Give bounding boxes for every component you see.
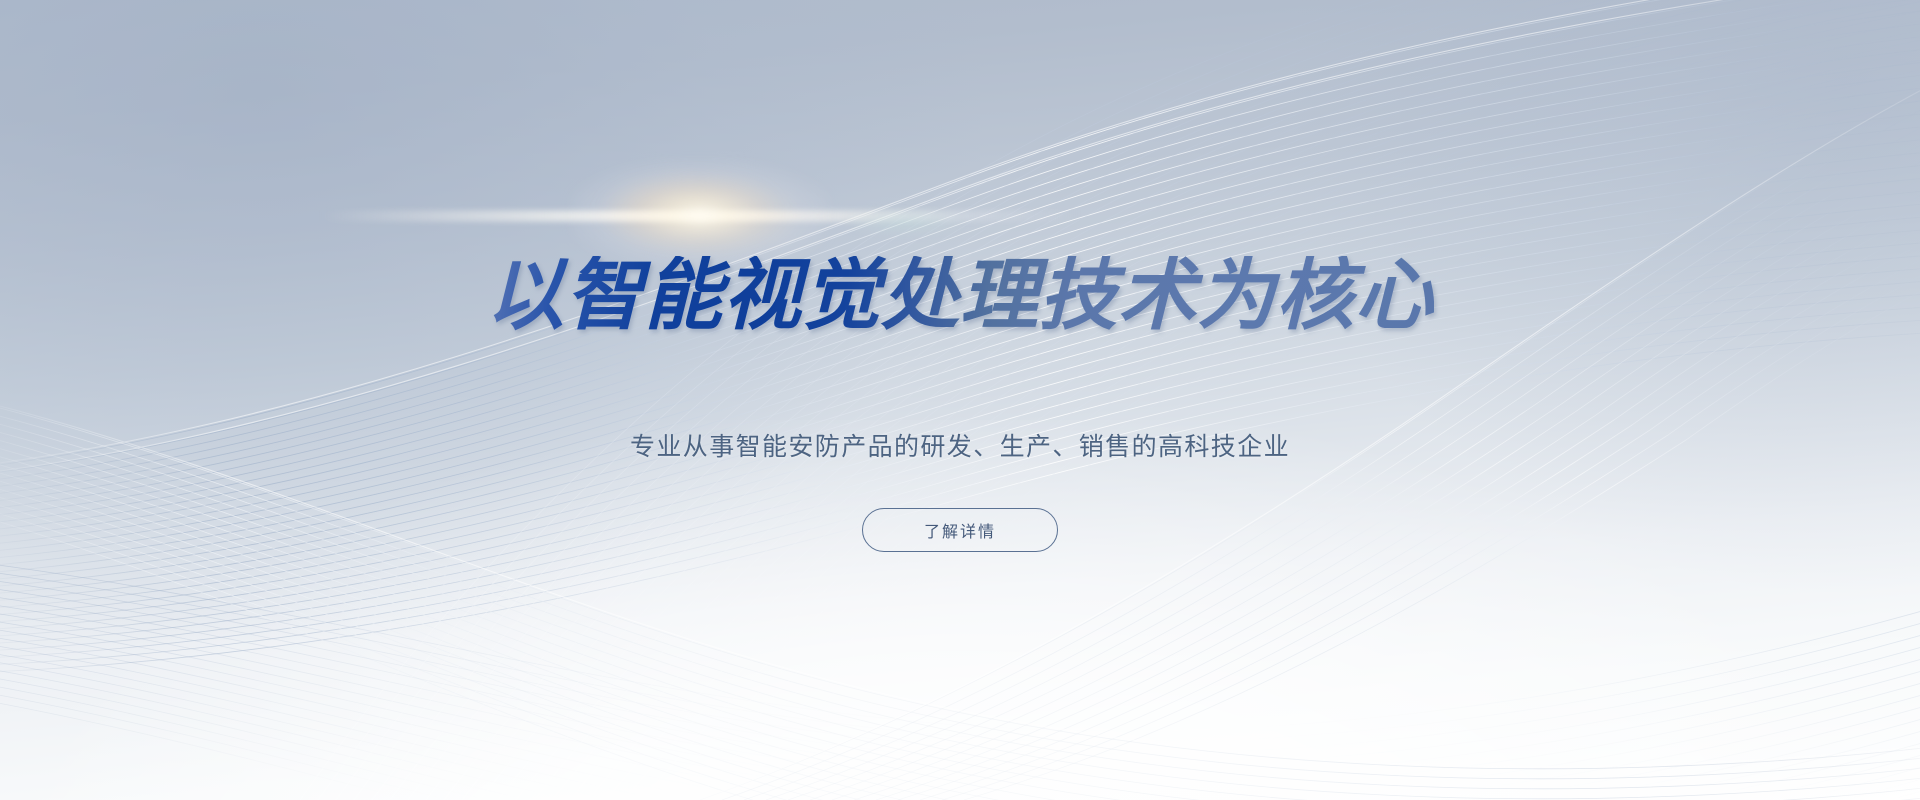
lens-flare-core xyxy=(570,160,830,270)
lens-flare-ghost xyxy=(845,209,965,235)
learn-more-button[interactable]: 了解详情 xyxy=(862,508,1058,552)
page-title: 以智能视觉处理技术为核心 xyxy=(486,256,1434,334)
background-tint-top-left xyxy=(0,0,980,640)
background-tint-right xyxy=(1280,0,1920,600)
hero-content: 以智能视觉处理技术为核心 专业从事智能安防产品的研发、生产、销售的高科技企业 了… xyxy=(0,0,1920,800)
hero-subtitle: 专业从事智能安防产品的研发、生产、销售的高科技企业 xyxy=(630,427,1290,463)
background-fade-bottom xyxy=(0,420,1920,800)
lens-flare-streak xyxy=(320,211,1080,222)
hero-banner: 以智能视觉处理技术为核心 专业从事智能安防产品的研发、生产、销售的高科技企业 了… xyxy=(0,0,1920,800)
flowing-line-waves-decoration xyxy=(0,0,1920,800)
lens-flare-warm-glow xyxy=(600,175,780,245)
